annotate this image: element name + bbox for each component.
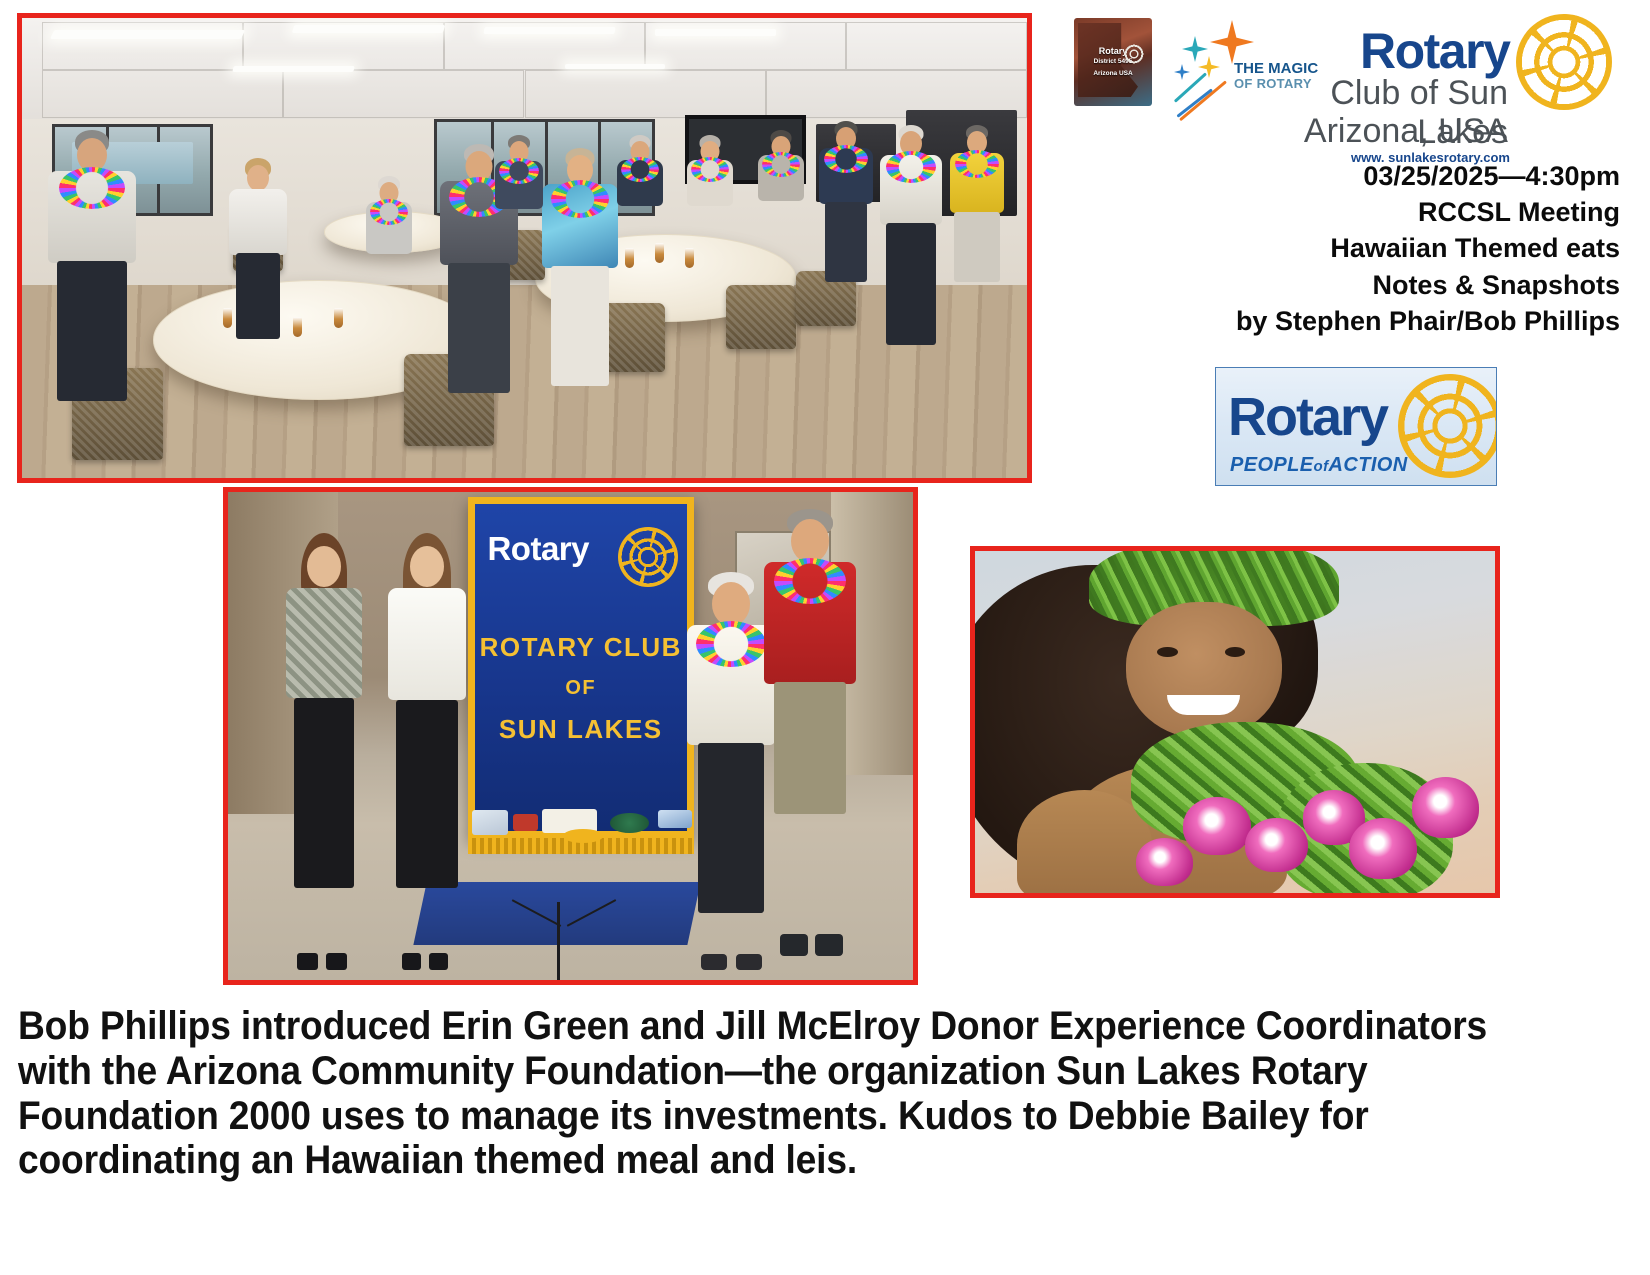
attendee (32, 133, 153, 437)
hula-dancer-scene (975, 551, 1495, 893)
poa-tagline-people: PEOPLE (1230, 454, 1314, 476)
caption-text: Bob Phillips introduced Erin Green and J… (18, 1004, 1506, 1183)
meeting-info-line-byline: by Stephen Phair/Bob Phillips (1120, 303, 1620, 339)
banner-line-1: ROTARY CLUB (475, 632, 687, 663)
person-erin-green (276, 536, 372, 970)
meeting-info-line-notes: Notes & Snapshots (1120, 267, 1620, 303)
shoe (402, 953, 421, 970)
attendee (354, 179, 424, 326)
meeting-info-line-date: 03/25/2025—4:30pm (1120, 158, 1620, 194)
ceiling-light (50, 30, 245, 39)
banner-line-2: OF (475, 677, 687, 700)
dancer-eye (1157, 647, 1178, 657)
rotary-wheel-icon (1516, 14, 1612, 110)
banner-badge (610, 813, 648, 833)
rotary-wheel-icon (1398, 374, 1497, 478)
banner-badge (513, 814, 538, 832)
district-logo-state-label: Arizona USA (1074, 70, 1152, 77)
ceiling-light (484, 27, 616, 34)
shoe (780, 934, 808, 956)
orchid-flower (1349, 818, 1417, 880)
poa-tagline-of: of (1314, 458, 1329, 475)
orchid-flower (1245, 818, 1307, 873)
shoe (429, 953, 448, 970)
spark-trail (1179, 80, 1227, 121)
attendee (675, 138, 745, 267)
shoe (297, 953, 318, 970)
photo-banner-group: Rotary ROTARY CLUB OF SUN LAKES (223, 487, 918, 985)
dancer-smile (1167, 695, 1240, 716)
banner-brand-text: Rotary (487, 530, 589, 568)
attendee (937, 128, 1017, 358)
orchid-flower (1183, 797, 1251, 855)
person-jill-mcelroy (379, 536, 475, 970)
drink-glass (334, 308, 343, 328)
brand-rotary-wordmark: Rotary (1360, 22, 1509, 80)
photo-hula-dancer (970, 546, 1500, 898)
people-of-action-logo: Rotary PEOPLEofACTION (1215, 367, 1497, 486)
tripod-stand (557, 902, 560, 980)
shoe (815, 934, 843, 956)
meeting-info-line-meeting: RCCSL Meeting (1120, 194, 1620, 230)
ceiling (22, 18, 1027, 124)
chair (726, 285, 796, 349)
ceiling-light (292, 25, 445, 33)
ceiling-light (655, 29, 776, 35)
header-block: Rotary District 5495 Arizona USA THE MAG… (1060, 8, 1640, 498)
district-5495-logo: Rotary District 5495 Arizona USA (1074, 18, 1152, 106)
meeting-info-line-theme: Hawaiian Themed eats (1120, 230, 1620, 266)
attendee (605, 138, 675, 267)
rotary-wheel-icon (618, 527, 678, 587)
star-spark-icon (1174, 64, 1190, 80)
star-spark-icon (1182, 36, 1208, 62)
orchid-flower (1412, 777, 1480, 839)
banner-badge (472, 810, 508, 835)
poa-rotary-wordmark: Rotary (1228, 386, 1387, 448)
ceiling-light (232, 66, 354, 72)
banner-badges (468, 780, 694, 839)
dancer-face (1126, 602, 1282, 739)
attendee (484, 138, 554, 267)
shoe (326, 953, 347, 970)
photo-meeting-room (17, 13, 1032, 483)
shoe (701, 954, 728, 970)
poa-tagline-action: ACTION (1329, 454, 1408, 476)
ceiling-light (565, 64, 666, 69)
dancer-eye (1225, 647, 1246, 657)
attendee (213, 161, 303, 363)
dancer-arm (1017, 790, 1152, 893)
meeting-info-block: 03/25/2025—4:30pm RCCSL Meeting Hawaiian… (1120, 158, 1620, 339)
banner-line-3: SUN LAKES (475, 714, 687, 745)
brand-state-line: Arizona, USA (1238, 112, 1508, 151)
meeting-room-scene (22, 18, 1027, 478)
orchid-flower (1136, 838, 1193, 886)
poa-tagline: PEOPLEofACTION (1230, 454, 1408, 477)
district-wheel-icon (1124, 44, 1144, 64)
banner-group-scene: Rotary ROTARY CLUB OF SUN LAKES (228, 492, 913, 980)
star-spark-icon (1210, 20, 1254, 64)
person-in-red-polo (755, 512, 865, 961)
